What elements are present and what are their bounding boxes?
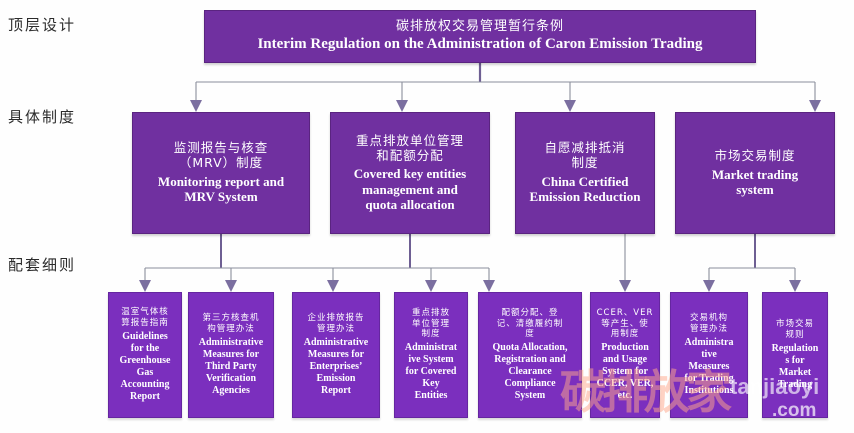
node-label-cn: 交易机构 管理办法: [690, 313, 728, 334]
node-label-en: Guidelines for the Greenhouse Gas Accoun…: [120, 331, 171, 403]
node-label-cn: 重点排放单位管理 和配额分配: [356, 134, 464, 164]
node-mrv-system[interactable]: 监测报告与核查 （MRV）制度 Monitoring report and MR…: [132, 112, 310, 234]
node-enterprise-emission-report[interactable]: 企业排放报告 管理办法 Administrative Measures for …: [292, 292, 380, 418]
node-market-trading-regulations[interactable]: 市场交易 规则 Regulation s for Market Trading: [762, 292, 828, 418]
node-label-en: Quota Allocation, Registration and Clear…: [492, 342, 567, 402]
node-label-cn: 市场交易制度: [714, 149, 795, 164]
node-label-cn: 企业排放报告 管理办法: [307, 313, 364, 334]
node-quota-allocation-compliance[interactable]: 配额分配、登 记、清缴履约制 度 Quota Allocation, Regis…: [478, 292, 582, 418]
node-label-cn: 温室气体核 算报告指南: [121, 307, 169, 328]
node-trading-institutions-measures[interactable]: 交易机构 管理办法 Administra tive Measures for T…: [670, 292, 748, 418]
node-label-cn: 重点排放 单位管理 制度: [412, 308, 450, 340]
node-label-cn: 市场交易 规则: [776, 319, 814, 340]
node-top-title-en: Interim Regulation on the Administration…: [257, 36, 702, 54]
node-top-title-cn: 碳排放权交易管理暂行条例: [396, 19, 564, 34]
node-market-trading-system[interactable]: 市场交易制度 Market trading system: [675, 112, 835, 234]
node-third-party-verification[interactable]: 第三方核查机 构管理办法 Administrative Measures for…: [188, 292, 274, 418]
node-label-cn: CCER、VER 等产生、使 用制度: [597, 308, 654, 340]
node-label-cn: 监测报告与核查 （MRV）制度: [174, 141, 269, 171]
node-covered-key-entities[interactable]: 重点排放单位管理 和配额分配 Covered key entities mana…: [330, 112, 490, 234]
node-label-cn: 第三方核查机 构管理办法: [202, 313, 259, 334]
node-top-regulation[interactable]: 碳排放权交易管理暂行条例 Interim Regulation on the A…: [204, 10, 756, 63]
node-label-cn: 自愿减排抵消 制度: [544, 141, 625, 171]
node-ccer[interactable]: 自愿减排抵消 制度 China Certified Emission Reduc…: [515, 112, 655, 234]
node-label-en: Administrative Measures for Third Party …: [199, 337, 263, 397]
row-label-supporting-rules: 配套细则: [8, 254, 76, 275]
node-ghg-accounting-guidelines[interactable]: 温室气体核 算报告指南 Guidelines for the Greenhous…: [108, 292, 182, 418]
node-covered-key-entities-system[interactable]: 重点排放 单位管理 制度 Administrat ive System for …: [394, 292, 468, 418]
node-label-en: Monitoring report and MRV System: [158, 174, 284, 205]
node-label-en: Production and Usage System for CCER, VE…: [597, 342, 654, 402]
node-label-en: Covered key entities management and quot…: [354, 166, 466, 212]
node-ccer-ver-production-usage[interactable]: CCER、VER 等产生、使 用制度 Production and Usage …: [590, 292, 660, 418]
row-label-specific-systems: 具体制度: [8, 106, 76, 127]
row-label-top-design: 顶层设计: [8, 14, 76, 35]
node-label-en: China Certified Emission Reduction: [530, 174, 641, 205]
node-label-cn: 配额分配、登 记、清缴履约制 度: [497, 308, 564, 340]
node-label-en: Administrat ive System for Covered Key E…: [405, 342, 457, 402]
node-label-en: Market trading system: [712, 167, 798, 198]
node-label-en: Administra tive Measures for Trading Ins…: [684, 337, 733, 397]
node-label-en: Regulation s for Market Trading: [772, 343, 819, 391]
node-label-en: Administrative Measures for Enterprises’…: [304, 337, 368, 397]
diagram-canvas: 顶层设计 具体制度 配套细则: [0, 0, 854, 433]
